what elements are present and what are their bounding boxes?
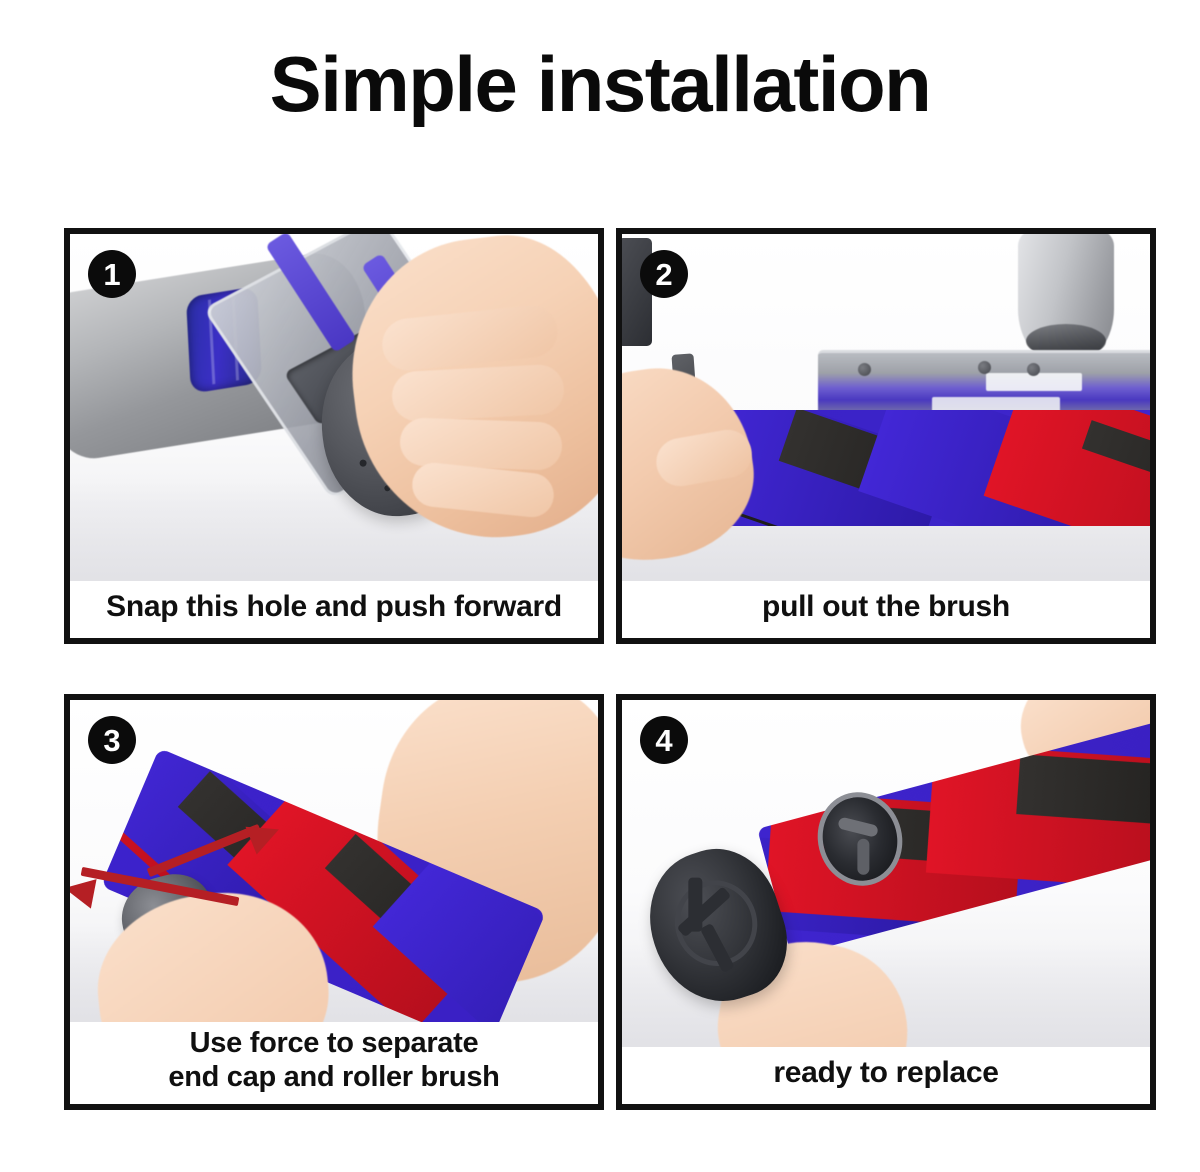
step-2-caption: pull out the brush	[622, 581, 1150, 638]
vacuum-neck-connector	[1018, 234, 1114, 362]
step-badge-1: 1	[88, 250, 136, 298]
step-3-caption-line-2: end cap and roller brush	[80, 1060, 588, 1094]
finger	[391, 364, 565, 423]
step-4-caption: ready to replace	[622, 1047, 1150, 1104]
instruction-sheet: Simple installation	[0, 0, 1200, 1172]
steps-grid: 1 Snap this hole and push forward	[64, 228, 1156, 1110]
cleaner-head-bolt	[1027, 363, 1040, 376]
step-1-photo: 1	[70, 234, 598, 581]
roller-brush	[706, 410, 1150, 526]
step-panel-1: 1 Snap this hole and push forward	[64, 228, 604, 644]
step-panel-2: 2 pull out the brush	[616, 228, 1156, 644]
step-2-photo: 2	[622, 234, 1150, 581]
step-badge-4: 4	[640, 716, 688, 764]
step-3-caption-line-1: Use force to separate	[80, 1026, 588, 1060]
page-title: Simple installation	[0, 44, 1200, 126]
step-badge-2: 2	[640, 250, 688, 298]
step-4-photo: 4	[622, 700, 1150, 1047]
step-panel-3: 3 Use force to separate end cap and roll…	[64, 694, 604, 1110]
step-3-caption: Use force to separate end cap and roller…	[70, 1022, 598, 1104]
step-panel-4: 4 ready to replace	[616, 694, 1156, 1110]
finger	[399, 417, 563, 471]
end-cap-screw-1	[359, 459, 367, 467]
cleaner-head-bolt	[978, 361, 991, 374]
cleaner-head-bolt	[858, 363, 871, 376]
step-1-caption: Snap this hole and push forward	[70, 581, 598, 638]
step-badge-3: 3	[88, 716, 136, 764]
step-3-photo: 3	[70, 700, 598, 1022]
